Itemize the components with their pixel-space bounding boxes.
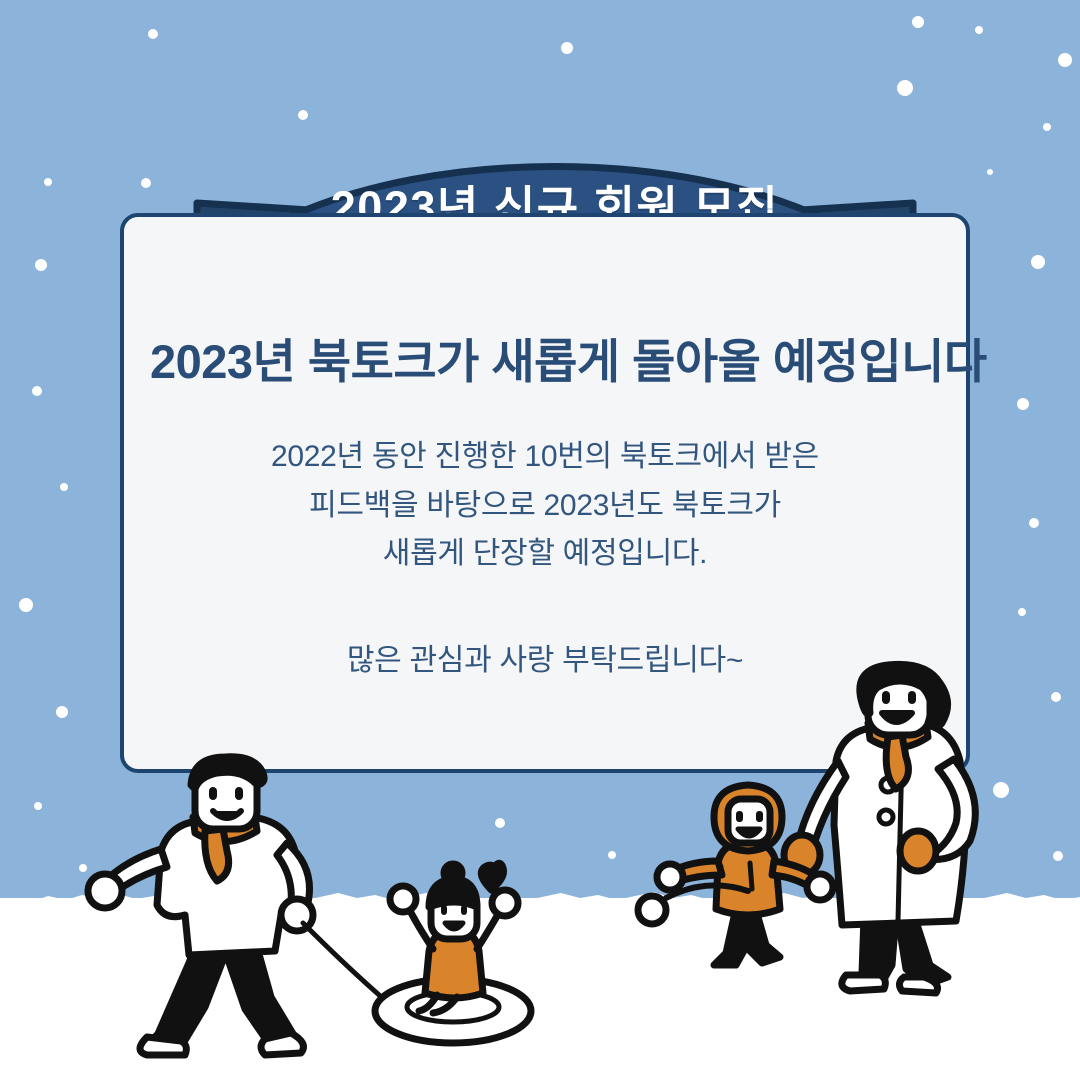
body-line-1: 2022년 동안 진행한 10번의 북토크에서 받은 [150,433,940,482]
body-line-3: 새롭게 단장할 예정입니다. [150,530,940,579]
body-line-2: 피드백을 바탕으로 2023년도 북토크가 [150,482,940,531]
snowflake-12 [1031,255,1045,269]
snowflake-4 [975,26,983,34]
snowflake-26 [608,851,616,859]
snowflake-17 [19,598,33,612]
snowflake-14 [1017,398,1029,410]
snowflake-5 [1058,53,1072,67]
snowflake-8 [44,178,52,186]
snowflake-3 [912,16,924,28]
snowflake-16 [1029,518,1039,528]
snowflake-2 [298,110,308,120]
snowflake-13 [32,386,42,396]
snowflake-19 [56,706,68,718]
snowflake-24 [495,818,505,828]
snowflake-15 [60,483,68,491]
snowflake-25 [79,864,87,872]
snowflake-22 [993,782,1009,798]
snowflake-20 [1051,692,1061,702]
snowflake-11 [35,259,47,271]
snowflake-1 [561,42,573,54]
snowflake-7 [1043,123,1051,131]
announcement-card: 2023년 북토크가 새롭게 돌아올 예정입니다 2022년 동안 진행한 10… [120,213,970,773]
snowflake-21 [34,802,42,810]
snowflake-9 [141,178,151,188]
closing-line: 많은 관심과 사랑 부탁드립니다~ [150,637,940,686]
snowflake-10 [987,169,993,175]
snowflake-18 [1018,608,1026,616]
snowflake-23 [960,807,968,815]
poster-root: 2023년 신규 회원 모집 2023년 북토크가 새롭게 돌아올 예정입니다 … [0,0,1080,1080]
snowflake-6 [897,80,913,96]
page-title: 2023년 북토크가 새롭게 돌아올 예정입니다 [150,335,940,389]
snowflake-27 [1053,851,1063,861]
body-spacer [150,579,940,637]
card-content: 2023년 북토크가 새롭게 돌아올 예정입니다 2022년 동안 진행한 10… [124,335,966,685]
snowflake-0 [148,29,158,39]
snow-ground [0,898,1080,1080]
